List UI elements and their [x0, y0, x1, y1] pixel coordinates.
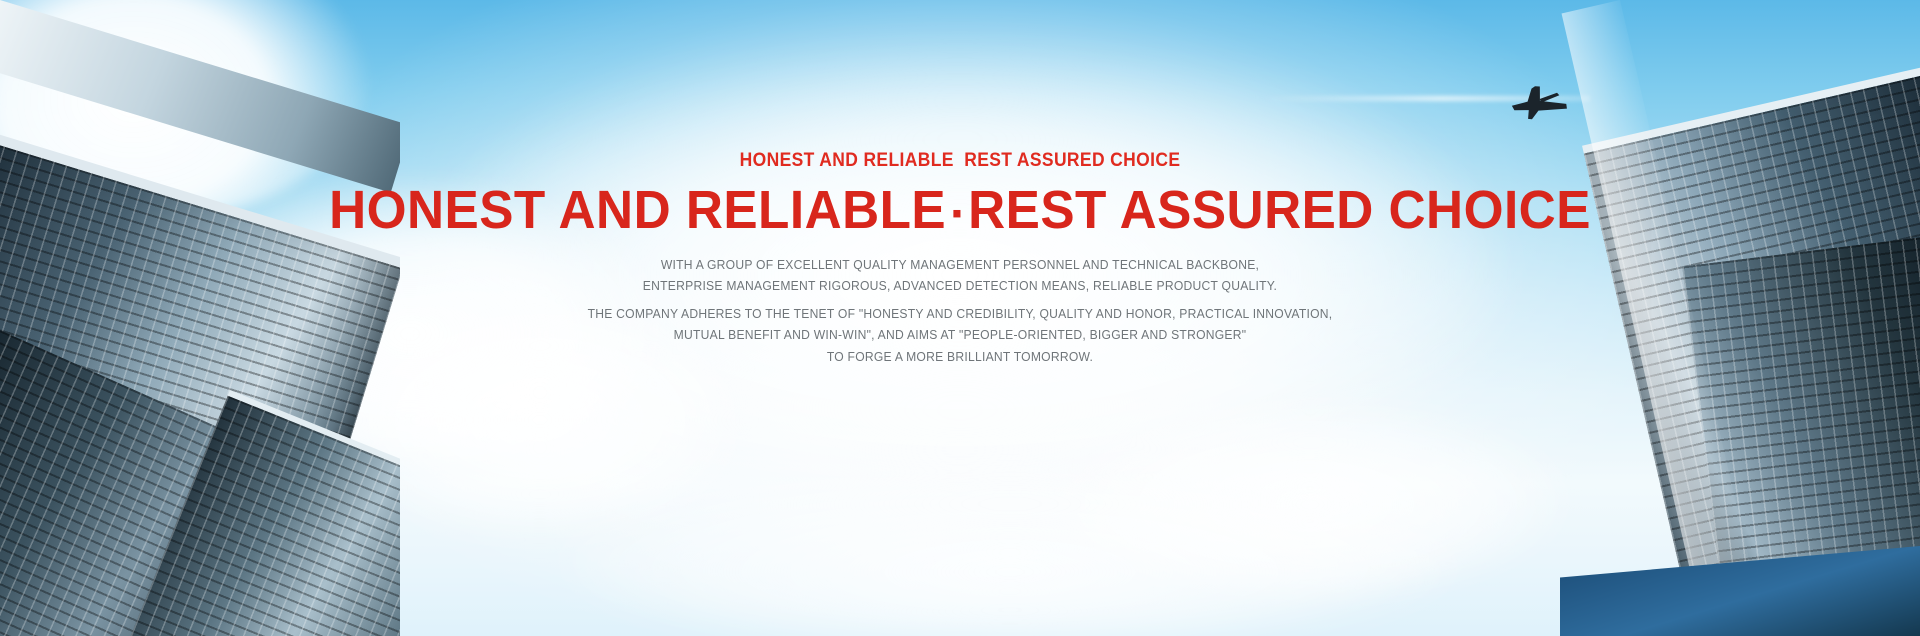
- description-line-5: TO FORGE A MORE BRILLIANT TOMORROW.: [29, 347, 1891, 369]
- hero-text-block: HONEST AND RELIABLE REST ASSURED CHOICE …: [0, 150, 1920, 368]
- headline-part-one: HONEST AND RELIABLE: [329, 180, 946, 240]
- cloud-bottom: [560, 470, 1460, 636]
- eyebrow-tagline: HONEST AND RELIABLE REST ASSURED CHOICE: [77, 150, 1843, 172]
- description-line-3: THE COMPANY ADHERES TO THE TENET OF "HON…: [29, 304, 1891, 326]
- hero-banner: HONEST AND RELIABLE REST ASSURED CHOICE …: [0, 0, 1920, 636]
- hero-description: WITH A GROUP OF EXCELLENT QUALITY MANAGE…: [29, 255, 1891, 369]
- headline-part-two: REST ASSURED CHOICE: [968, 180, 1591, 240]
- description-line-4: MUTUAL BENEFIT AND WIN-WIN", AND AIMS AT…: [29, 325, 1891, 347]
- description-line-1: WITH A GROUP OF EXCELLENT QUALITY MANAGE…: [29, 255, 1891, 277]
- description-line-2: ENTERPRISE MANAGEMENT RIGOROUS, ADVANCED…: [29, 276, 1891, 298]
- page-title: HONEST AND RELIABLE▪REST ASSURED CHOICE: [48, 182, 1872, 239]
- square-separator-icon: ▪: [946, 197, 968, 230]
